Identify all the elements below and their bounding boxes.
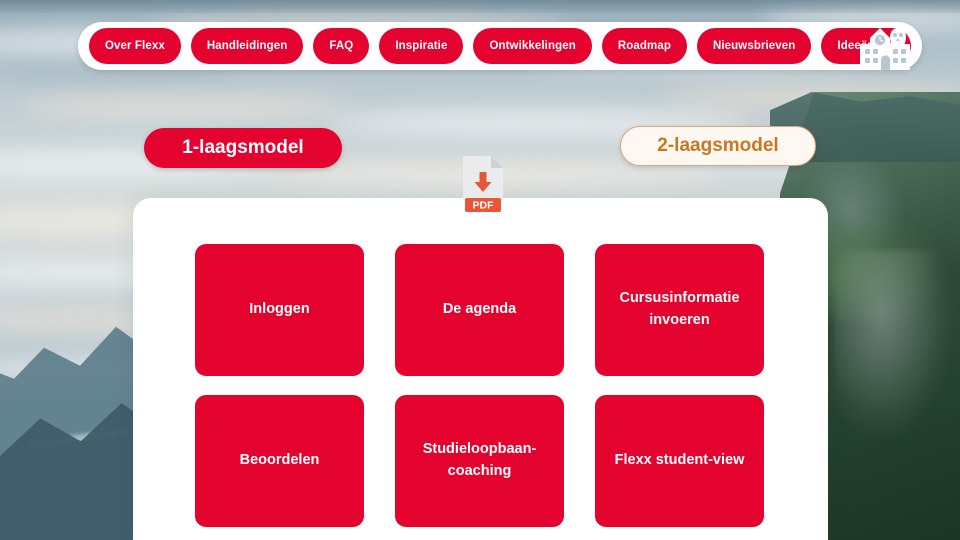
card-inloggen[interactable]: Inloggen (195, 244, 364, 376)
nav-item-handleidingen[interactable]: Handleidingen (191, 28, 304, 64)
pdf-download-icon[interactable]: PDF (461, 156, 505, 214)
pdf-label: PDF (473, 200, 495, 212)
card-studieloopbaan-coaching[interactable]: Studieloopbaan-coaching (395, 395, 564, 527)
card-de-agenda[interactable]: De agenda (395, 244, 564, 376)
card-grid: Inloggen De agenda Cursusinformatie invo… (195, 244, 773, 527)
nav-item-inspiratie[interactable]: Inspiratie (379, 28, 463, 64)
nav-item-nieuwsbrieven[interactable]: Nieuwsbrieven (697, 28, 811, 64)
tab-1-laagsmodel[interactable]: 1-laagsmodel (144, 128, 342, 168)
card-beoordelen[interactable]: Beoordelen (195, 395, 364, 527)
top-navigation-bar: Over Flexx Handleidingen FAQ Inspiratie … (78, 22, 922, 70)
school-building-with-clock-and-owl-icon[interactable] (854, 18, 922, 76)
mountain-rock-texture (834, 250, 954, 440)
nav-item-faq[interactable]: FAQ (313, 28, 369, 64)
content-panel: Inloggen De agenda Cursusinformatie invo… (133, 198, 828, 540)
photo-top-band (0, 0, 960, 13)
nav-item-ontwikkelingen[interactable]: Ontwikkelingen (473, 28, 591, 64)
cloud-streak (20, 96, 350, 118)
nav-item-over-flexx[interactable]: Over Flexx (89, 28, 181, 64)
nav-item-roadmap[interactable]: Roadmap (602, 28, 687, 64)
card-flexx-student-view[interactable]: Flexx student-view (595, 395, 764, 527)
card-cursusinformatie-invoeren[interactable]: Cursusinformatie invoeren (595, 244, 764, 376)
tab-2-laagsmodel[interactable]: 2-laagsmodel (620, 126, 816, 166)
